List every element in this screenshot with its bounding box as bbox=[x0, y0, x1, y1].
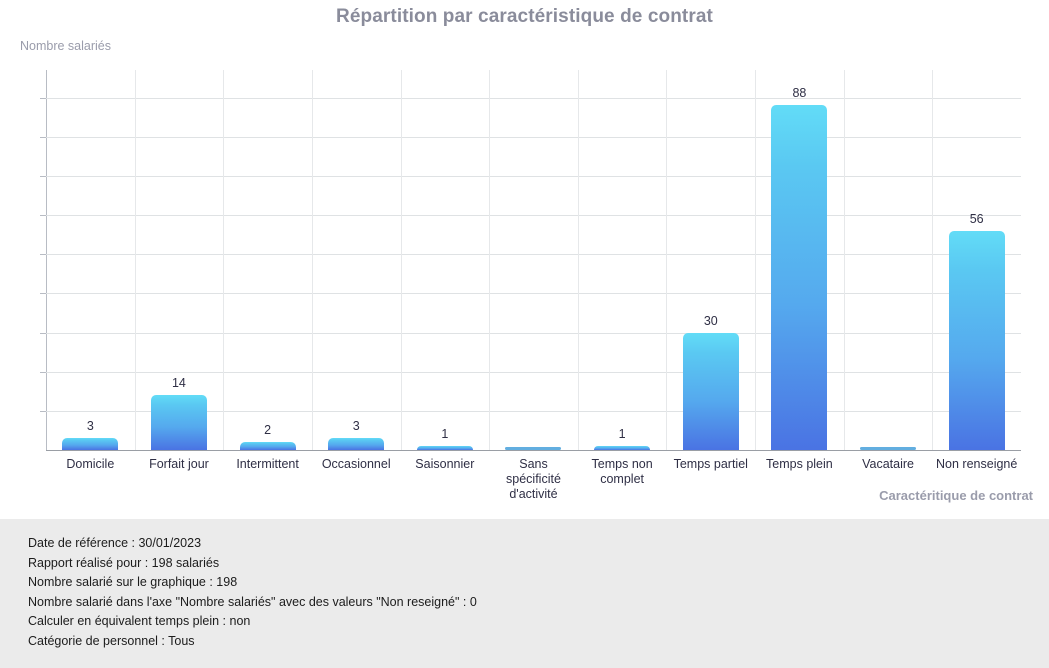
bar[interactable] bbox=[151, 395, 207, 450]
bar-value-label: 56 bbox=[970, 212, 984, 226]
bar-value-label: 88 bbox=[792, 86, 806, 100]
footer-line: Nombre salarié dans l'axe "Nombre salari… bbox=[28, 593, 477, 613]
footer-line: Calculer en équivalent temps plein : non bbox=[28, 612, 477, 632]
x-tick-label: Saisonnier bbox=[401, 457, 490, 472]
x-tick-label-line: Temps non bbox=[578, 457, 667, 472]
y-axis-title: Nombre salariés bbox=[20, 39, 111, 53]
bar[interactable] bbox=[328, 438, 384, 450]
footer-line: Date de référence : 30/01/2023 bbox=[28, 534, 477, 554]
bar[interactable] bbox=[860, 447, 916, 450]
bar[interactable] bbox=[594, 446, 650, 450]
x-tick-label-line: spécificité bbox=[489, 472, 578, 487]
x-tick-label: Temps plein bbox=[755, 457, 844, 472]
x-tick-label-line: Temps plein bbox=[755, 457, 844, 472]
x-tick-label: Temps noncomplet bbox=[578, 457, 667, 487]
x-axis-tick-labels: DomicileForfait jourIntermittentOccasion… bbox=[46, 457, 1021, 507]
bar-slot: 56 bbox=[932, 70, 1021, 450]
bar-value-label: 14 bbox=[172, 376, 186, 390]
footer-line: Rapport réalisé pour : 198 salariés bbox=[28, 554, 477, 574]
x-tick-label: Vacataire bbox=[844, 457, 933, 472]
x-tick-label-line: Temps partiel bbox=[666, 457, 755, 472]
bar[interactable] bbox=[62, 438, 118, 450]
footer-line-list: Date de référence : 30/01/2023Rapport ré… bbox=[28, 534, 477, 651]
bar[interactable] bbox=[949, 231, 1005, 450]
x-tick-label: Intermittent bbox=[223, 457, 312, 472]
bar-slot: 30 bbox=[666, 70, 755, 450]
bar-slot: 3 bbox=[46, 70, 135, 450]
bar[interactable] bbox=[505, 447, 561, 450]
bar-series: 3142311308856 bbox=[46, 70, 1021, 451]
bar-value-label: 1 bbox=[619, 427, 626, 441]
bar[interactable] bbox=[240, 442, 296, 450]
x-tick-label: Temps partiel bbox=[666, 457, 755, 472]
bar-slot: 88 bbox=[755, 70, 844, 450]
bar-slot: 1 bbox=[578, 70, 667, 450]
x-tick-label: Non renseigné bbox=[932, 457, 1021, 472]
x-tick-label-line: Intermittent bbox=[223, 457, 312, 472]
bar-slot: 2 bbox=[223, 70, 312, 450]
footer-line: Catégorie de personnel : Tous bbox=[28, 632, 477, 652]
bar[interactable] bbox=[417, 446, 473, 450]
bar-value-label: 3 bbox=[353, 419, 360, 433]
bar[interactable] bbox=[683, 333, 739, 450]
x-tick-label-line: Non renseigné bbox=[932, 457, 1021, 472]
x-tick-label: Forfait jour bbox=[135, 457, 224, 472]
bar-slot: 3 bbox=[312, 70, 401, 450]
x-tick-label-line: d'activité bbox=[489, 487, 578, 502]
bar-value-label: 30 bbox=[704, 314, 718, 328]
footer-info-panel: Date de référence : 30/01/2023Rapport ré… bbox=[0, 519, 1049, 668]
bar-slot: 14 bbox=[135, 70, 224, 450]
bar-slot: 1 bbox=[401, 70, 490, 450]
bar-value-label: 1 bbox=[441, 427, 448, 441]
x-tick-label-line: Forfait jour bbox=[135, 457, 224, 472]
x-tick-label-line: Domicile bbox=[46, 457, 135, 472]
chart-title: Répartition par caractéristique de contr… bbox=[0, 6, 1049, 28]
x-tick-label-line: Sans bbox=[489, 457, 578, 472]
bar[interactable] bbox=[771, 105, 827, 450]
bar-value-label: 2 bbox=[264, 423, 271, 437]
bar-slot bbox=[844, 70, 933, 450]
x-tick-label-line: Vacataire bbox=[844, 457, 933, 472]
x-tick-label-line: Saisonnier bbox=[401, 457, 490, 472]
plot-area: 0102030405060708090 3142311308856 bbox=[46, 70, 1021, 451]
bar-value-label: 3 bbox=[87, 419, 94, 433]
x-tick-label-line: Occasionnel bbox=[312, 457, 401, 472]
x-tick-label: Domicile bbox=[46, 457, 135, 472]
x-tick-label: Sansspécificitéd'activité bbox=[489, 457, 578, 502]
x-tick-label: Occasionnel bbox=[312, 457, 401, 472]
bar-slot bbox=[489, 70, 578, 450]
footer-line: Nombre salarié sur le graphique : 198 bbox=[28, 573, 477, 593]
x-tick-label-line: complet bbox=[578, 472, 667, 487]
